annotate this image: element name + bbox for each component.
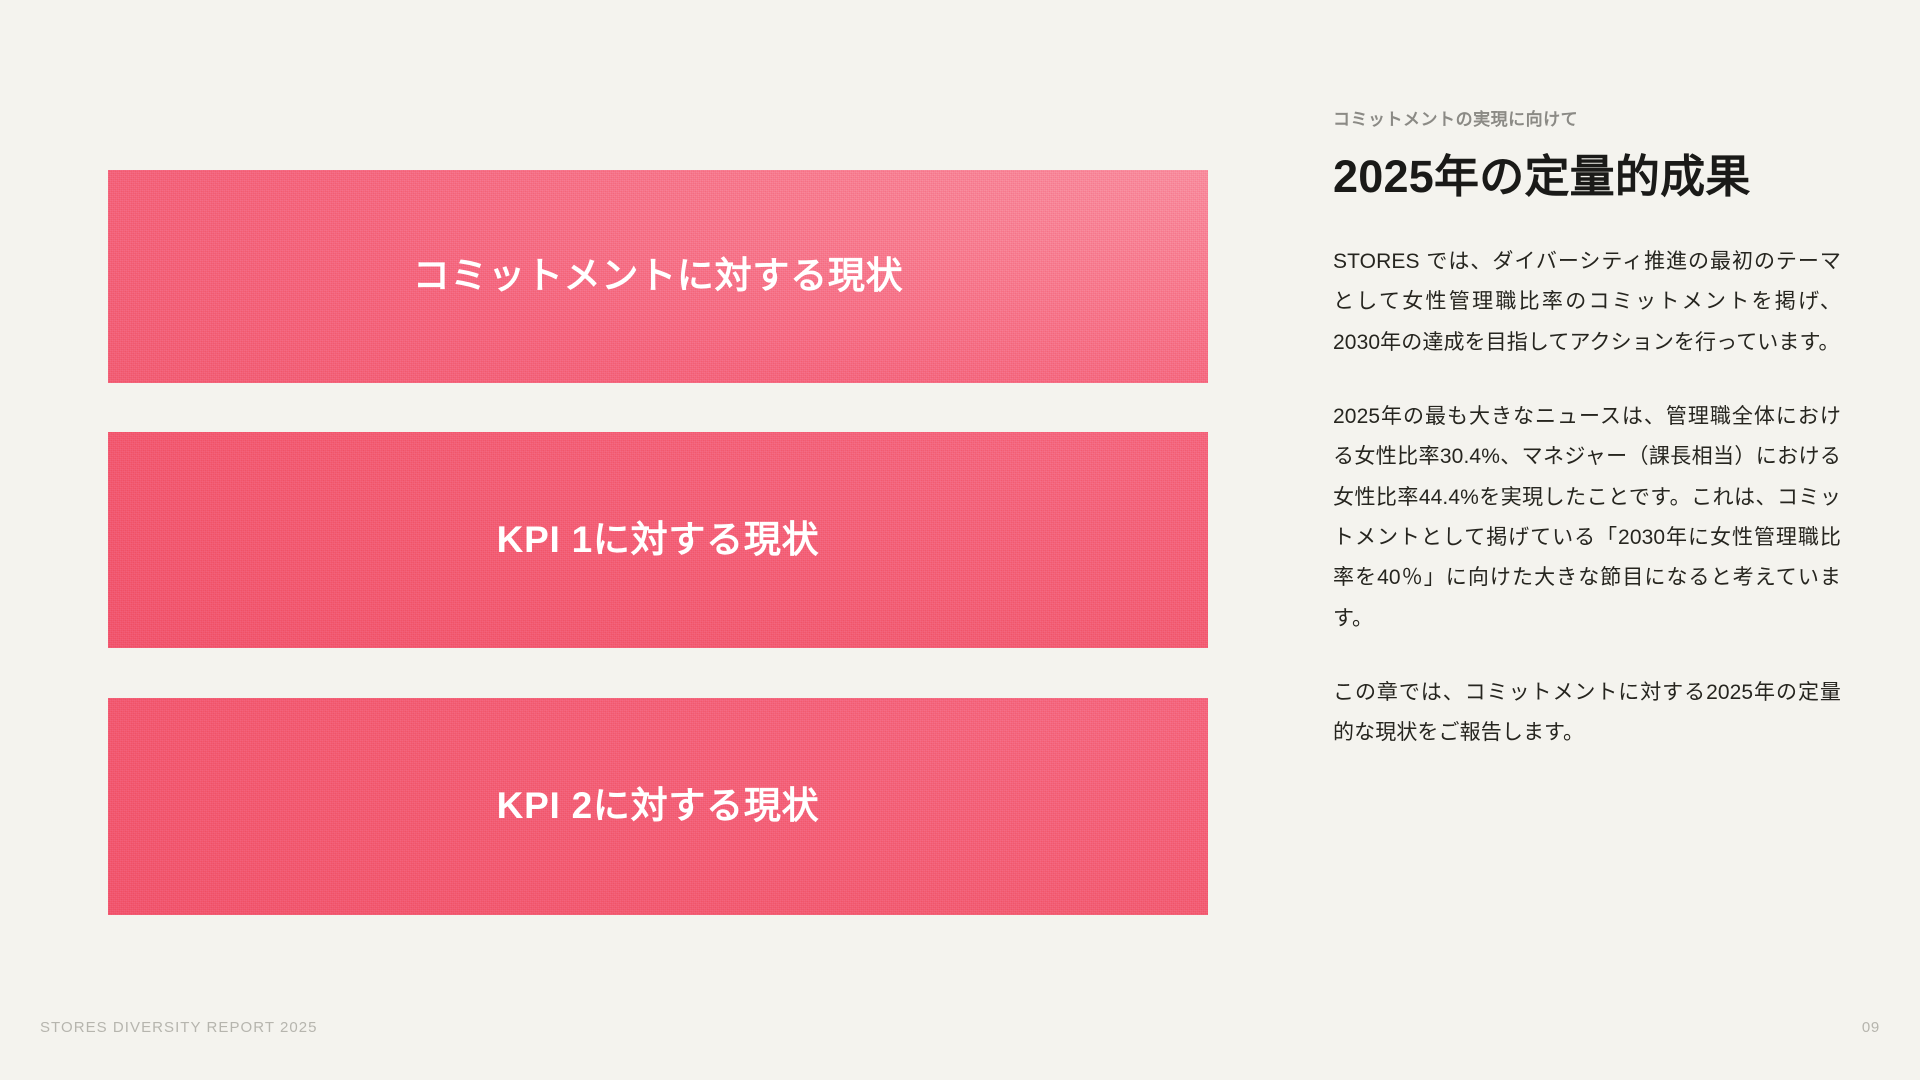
section-card-list: コミットメントに対する現状 KPI 1に対する現状 KPI 2に対する現状	[108, 170, 1208, 915]
footer-report-title: STORES DIVERSITY REPORT 2025	[40, 1019, 318, 1036]
body-paragraph: 2025年の最も大きなニュースは、管理職全体における女性比率30.4%、マネジャ…	[1333, 397, 1841, 639]
section-card-kpi-1[interactable]: KPI 1に対する現状	[108, 432, 1208, 648]
panel-eyebrow: コミットメントの実現に向けて	[1333, 108, 1841, 132]
body-paragraph: この章では、コミットメントに対する2025年の定量的な現状をご報告します。	[1333, 673, 1841, 754]
section-card-label: KPI 1に対する現状	[497, 516, 820, 564]
body-paragraph: STORES では、ダイバーシティ推進の最初のテーマとして女性管理職比率のコミッ…	[1333, 242, 1841, 363]
slide-root: コミットメントに対する現状 KPI 1に対する現状 KPI 2に対する現状 コミ…	[0, 0, 1920, 1080]
section-card-commitment[interactable]: コミットメントに対する現状	[108, 170, 1208, 383]
narrative-panel: コミットメントの実現に向けて 2025年の定量的成果 STORES では、ダイバ…	[1333, 108, 1841, 753]
panel-body-copy: STORES では、ダイバーシティ推進の最初のテーマとして女性管理職比率のコミッ…	[1333, 242, 1841, 753]
section-card-label: コミットメントに対する現状	[413, 252, 904, 300]
section-card-kpi-2[interactable]: KPI 2に対する現状	[108, 698, 1208, 915]
page-title: 2025年の定量的成果	[1333, 149, 1841, 205]
footer-page-number: 09	[1862, 1019, 1880, 1036]
section-card-label: KPI 2に対する現状	[497, 782, 820, 830]
